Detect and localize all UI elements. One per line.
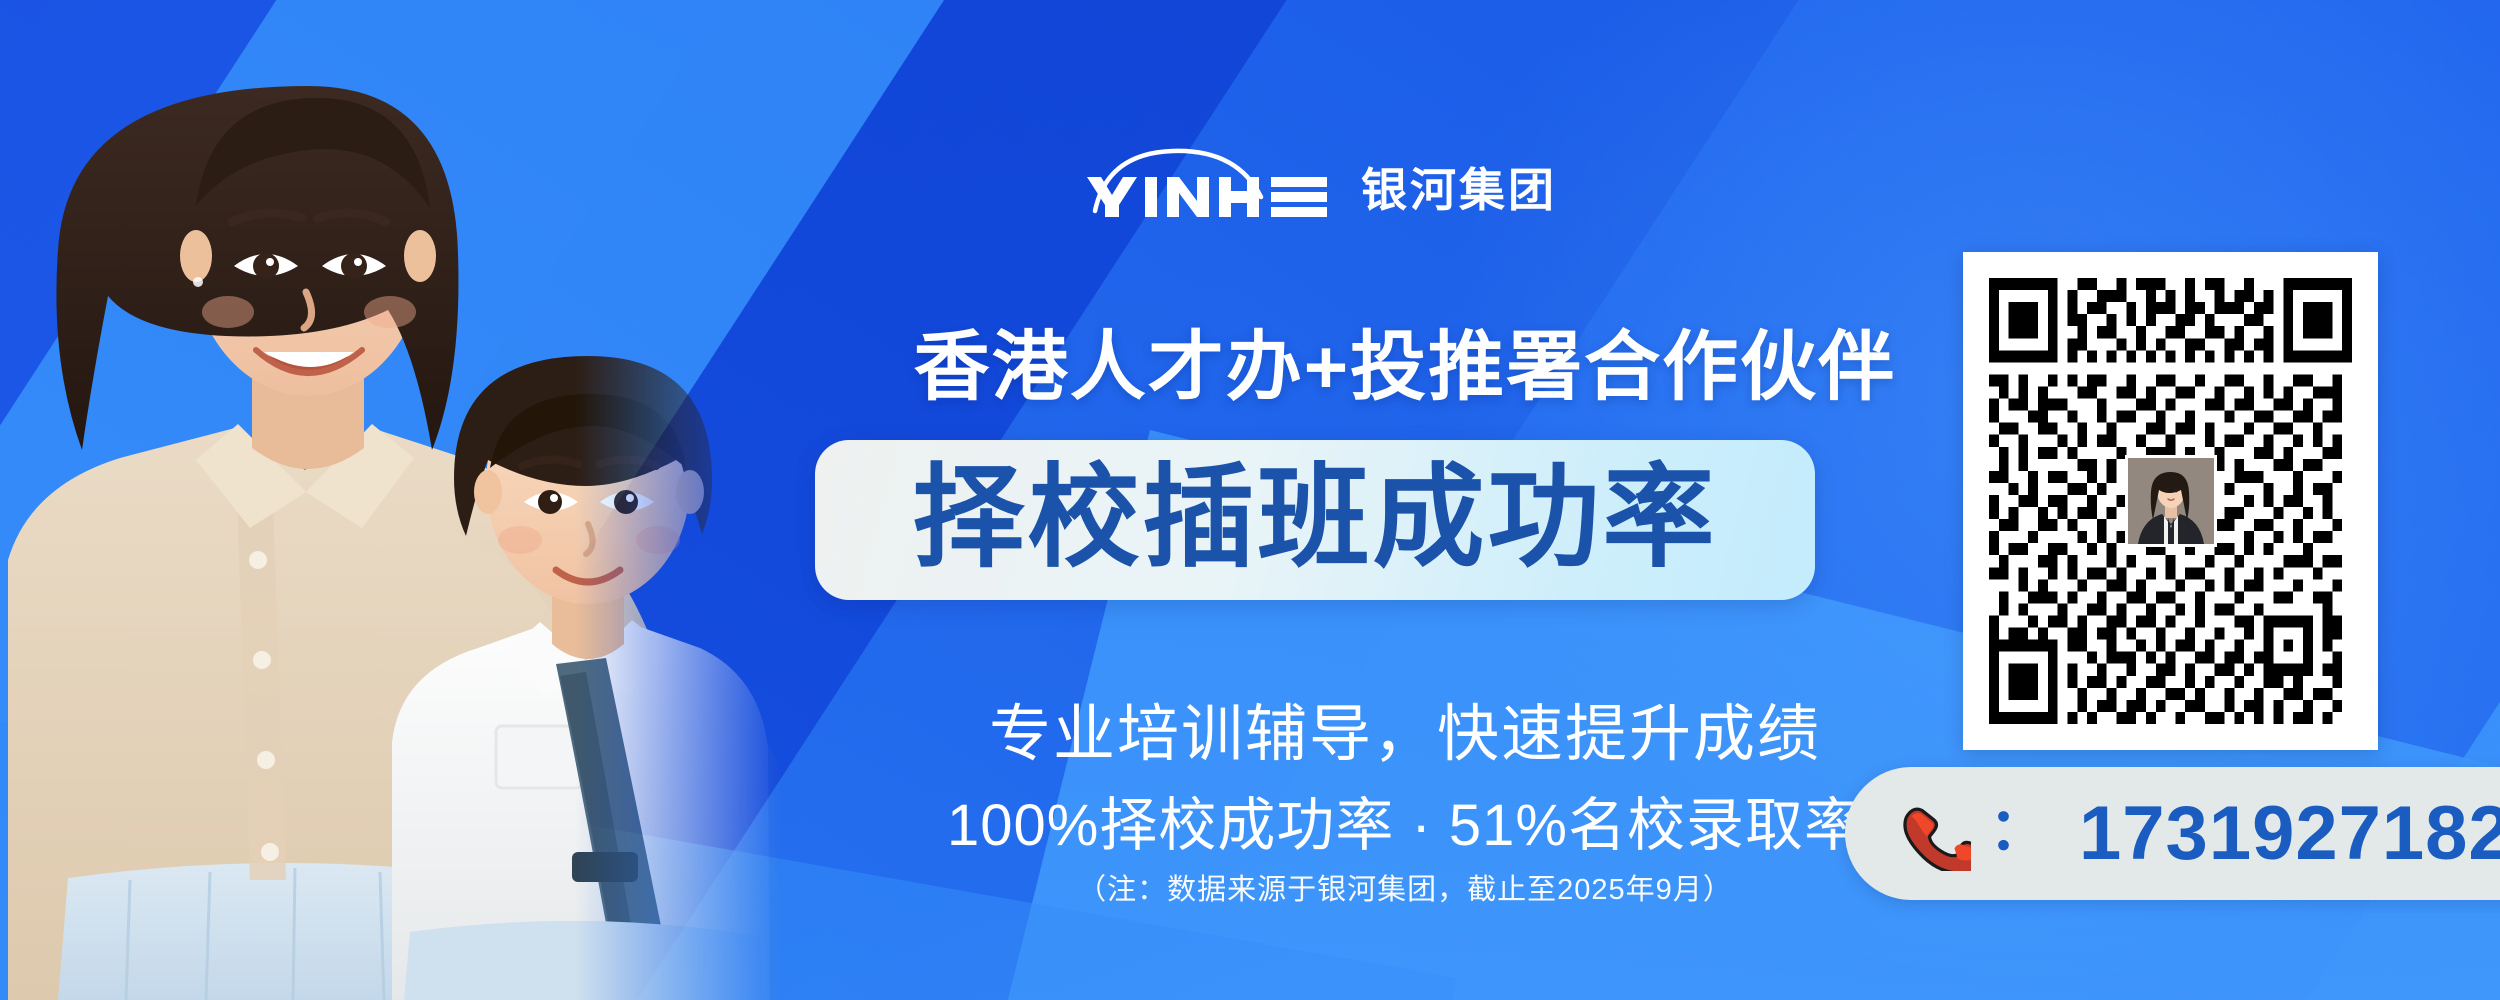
consultant-avatar — [2125, 455, 2217, 547]
emphasis-text: 择校插班成功率 — [913, 462, 1718, 574]
footnote: （注：数据来源于银河集团，截止至2025年9月） — [1077, 866, 1733, 908]
brand-name-cn: 银河集团 — [1361, 167, 1557, 217]
phone-contact-pill[interactable]: ： 17319271820 — [1845, 767, 2500, 900]
stats-line: 100%择校成功率 · 51%名校录取率 — [947, 778, 1863, 862]
brand-logo: 银河集团 — [1085, 145, 1557, 217]
arc-swoosh-icon — [1085, 145, 1335, 217]
emphasis-pill: 择校插班成功率 — [815, 440, 1815, 600]
subtitle: 专业培训辅导，快速提升成绩 — [989, 683, 1821, 773]
wechat-qr-code[interactable] — [1963, 252, 2378, 750]
phone-number[interactable]: 17319271820 — [2079, 796, 2500, 872]
phone-separator: ： — [1989, 801, 2047, 859]
promotional-banner: 银河集团 香港人才办+投推署合作伙伴 择校插班成功率 专业培训辅导，快速提升成绩… — [0, 0, 2500, 1000]
telephone-handset-icon — [1897, 797, 1971, 871]
mother-and-child-photo — [0, 0, 800, 1000]
headline: 香港人才办+投推署合作伙伴 — [914, 305, 1896, 415]
